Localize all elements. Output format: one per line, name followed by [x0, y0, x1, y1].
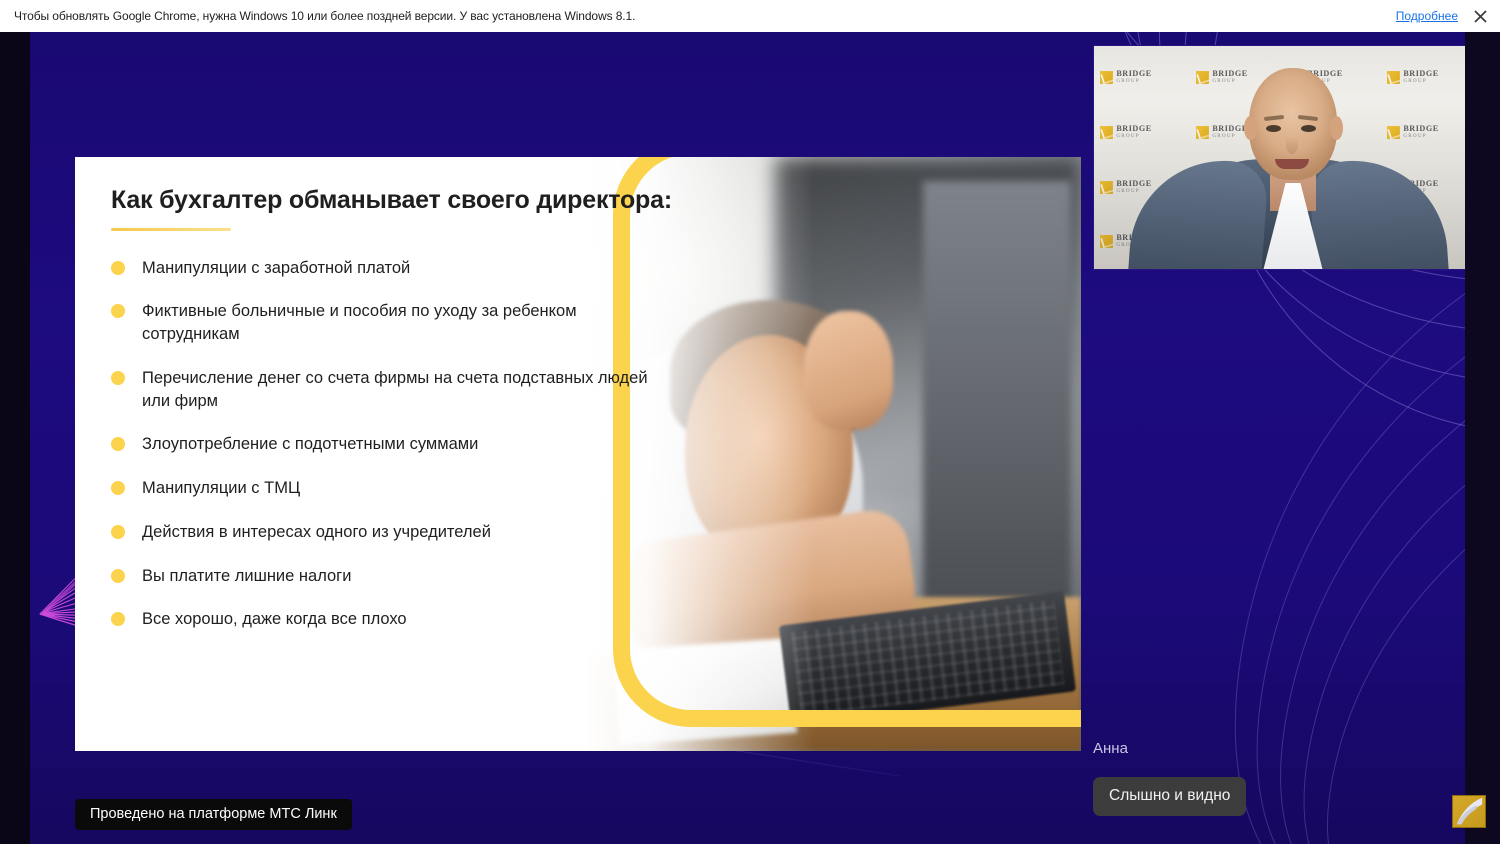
bridge-group-logo[interactable]	[1452, 795, 1486, 828]
photo-monitor	[923, 181, 1072, 644]
list-item: Вы платите лишние налоги	[111, 565, 731, 588]
photo-person-hand	[804, 311, 893, 430]
learn-more-link[interactable]: Подробнее	[1396, 9, 1458, 23]
bullet-text: Злоупотребление с подотчетными суммами	[142, 433, 478, 456]
list-item: Перечисление денег со счета фирмы на сче…	[111, 367, 731, 413]
chat-author-name: Анна	[1093, 740, 1128, 757]
bullet-dot-icon	[111, 371, 125, 385]
chat-message-bubble[interactable]: Слышно и видно	[1093, 777, 1246, 816]
bullet-text: Действия в интересах одного из учредител…	[142, 521, 491, 544]
bullet-dot-icon	[111, 261, 125, 275]
list-item: Фиктивные больничные и пособия по уходу …	[111, 300, 731, 346]
list-item: Манипуляции с ТМЦ	[111, 477, 731, 500]
left-dark-rail	[0, 32, 30, 844]
speaker-ear-right	[1330, 116, 1343, 140]
bullet-dot-icon	[111, 437, 125, 451]
bullet-dot-icon	[111, 525, 125, 539]
bullet-dot-icon	[111, 569, 125, 583]
webinar-background-canvas: Как бухгалтер обманывает своего директор…	[30, 32, 1465, 844]
speaker-mouth	[1275, 159, 1309, 169]
bullet-text: Манипуляции с ТМЦ	[142, 477, 300, 500]
list-item: Все хорошо, даже когда все плохо	[111, 608, 731, 631]
bullet-text: Фиктивные больничные и пособия по уходу …	[142, 300, 670, 346]
speaker-eye-left	[1266, 125, 1281, 132]
close-icon[interactable]	[1470, 6, 1490, 26]
speaker-nose	[1286, 136, 1298, 154]
list-item: Злоупотребление с подотчетными суммами	[111, 433, 731, 456]
bullet-text: Перечисление денег со счета фирмы на сче…	[142, 367, 670, 413]
bullet-text: Вы платите лишние налоги	[142, 565, 351, 588]
bullet-text: Манипуляции с заработной платой	[142, 257, 410, 280]
presentation-slide[interactable]: Как бухгалтер обманывает своего директор…	[75, 157, 1081, 751]
bullet-text: Все хорошо, даже когда все плохо	[142, 608, 407, 631]
list-item: Манипуляции с заработной платой	[111, 257, 731, 280]
bullet-dot-icon	[111, 481, 125, 495]
webinar-stage: Как бухгалтер обманывает своего директор…	[0, 32, 1500, 844]
title-underline	[111, 228, 231, 231]
bullet-dot-icon	[111, 304, 125, 318]
slide-text-column: Как бухгалтер обманывает своего директор…	[111, 187, 731, 652]
bullet-dot-icon	[111, 612, 125, 626]
list-item: Действия в интересах одного из учредител…	[111, 521, 731, 544]
speaker-video-tile[interactable]: BRIDGEGROUP BRIDGEGROUP BRIDGEGROUP BRID…	[1093, 45, 1465, 270]
platform-badge: Проведено на платформе МТС Линк	[75, 799, 352, 830]
bridge-group-logo-icon	[1453, 796, 1485, 827]
chrome-update-notification-bar: Чтобы обновлять Google Chrome, нужна Win…	[0, 0, 1500, 32]
slide-title: Как бухгалтер обманывает своего директор…	[111, 187, 731, 215]
right-dark-rail	[1465, 32, 1500, 844]
chrome-update-message: Чтобы обновлять Google Chrome, нужна Win…	[14, 9, 635, 23]
slide-bullet-list: Манипуляции с заработной платой Фиктивны…	[111, 257, 731, 632]
speaker-ear-left	[1244, 116, 1257, 140]
speaker-eye-right	[1301, 125, 1316, 132]
